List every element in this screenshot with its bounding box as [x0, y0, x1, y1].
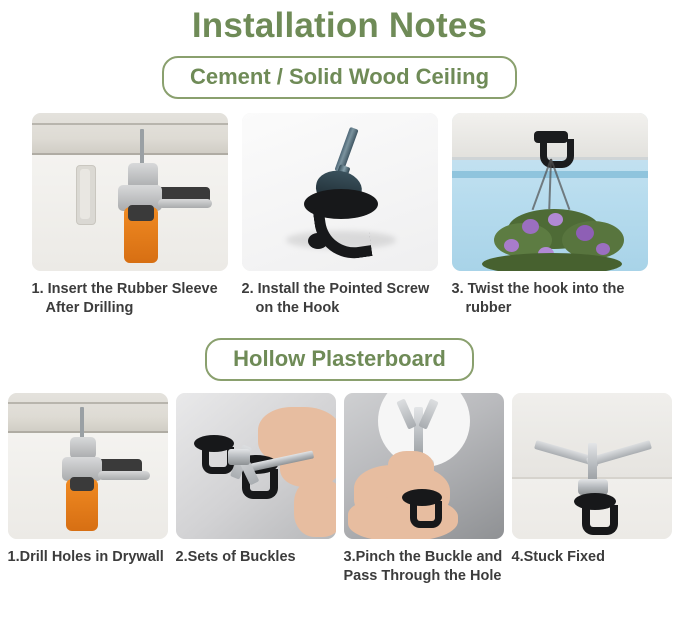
step-card-plaster-2: 2.Sets of Buckles: [176, 393, 336, 567]
pinch-the-buckle-photo: [344, 393, 504, 539]
sets-of-buckles-in-hand-photo: [176, 393, 336, 539]
page-title: Installation Notes: [0, 0, 679, 48]
section-heading-plasterboard: Hollow Plasterboard: [205, 338, 474, 381]
step-card-plaster-1: 1.Drill Holes in Drywall: [8, 393, 168, 567]
installation-notes-page: Installation Notes Cement / Solid Wood C…: [0, 0, 679, 627]
step-caption-cement-3: 3. Twist the hook into the rubber: [452, 280, 648, 318]
step-card-cement-2: 2. Install the Pointed Screw on the Hook: [242, 113, 438, 318]
step-caption-plaster-4: 4.Stuck Fixed: [512, 548, 672, 567]
section-heading-cement: Cement / Solid Wood Ceiling: [162, 56, 517, 99]
step-caption-cement-2: 2. Install the Pointed Screw on the Hook: [242, 280, 438, 318]
drill-holes-in-drywall-photo: [8, 393, 168, 539]
step-caption-plaster-1: 1.Drill Holes in Drywall: [8, 548, 168, 567]
plasterboard-steps-row: 1.Drill Holes in Drywall 2.Se: [0, 393, 679, 586]
drill-with-rubber-sleeve-photo: [32, 113, 228, 271]
step-card-cement-1: 1. Insert the Rubber Sleeve After Drilli…: [32, 113, 228, 318]
ceiling-hook-with-hanging-flowers-photo: [452, 113, 648, 271]
cement-steps-row: 1. Insert the Rubber Sleeve After Drilli…: [0, 113, 679, 318]
step-card-cement-3: 3. Twist the hook into the rubber: [452, 113, 648, 318]
screw-and-black-hook-photo: [242, 113, 438, 271]
step-caption-plaster-2: 2.Sets of Buckles: [176, 548, 336, 567]
step-caption-cement-1: 1. Insert the Rubber Sleeve After Drilli…: [32, 280, 228, 318]
step-caption-plaster-3: 3.Pinch the Buckle and Pass Through the …: [344, 548, 504, 586]
step-card-plaster-4: 4.Stuck Fixed: [512, 393, 672, 567]
step-card-plaster-3: 3.Pinch the Buckle and Pass Through the …: [344, 393, 504, 586]
stuck-fixed-toggle-anchor-photo: [512, 393, 672, 539]
